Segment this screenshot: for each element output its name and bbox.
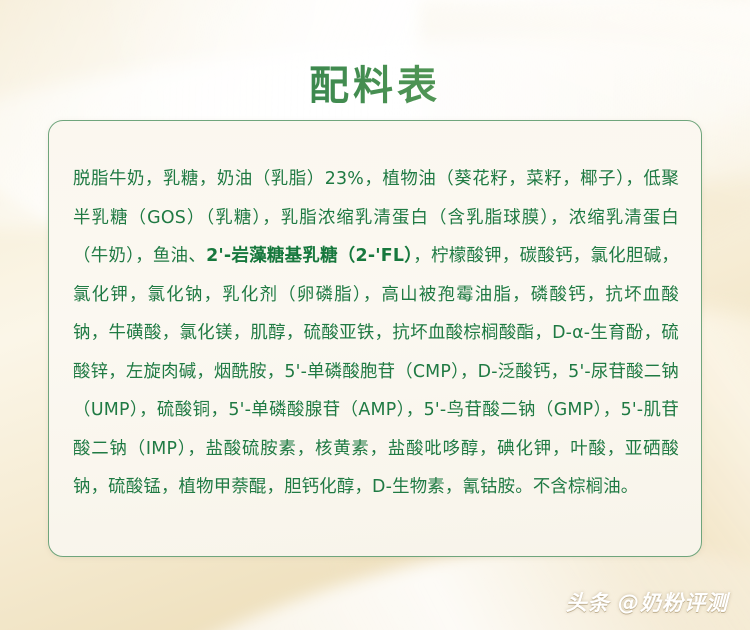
poster-stage: 配料表 脱脂牛奶，乳糖，奶油（乳脂）23%，植物油（葵花籽，菜籽，椰子），低聚半… — [0, 0, 750, 630]
page-title: 配料表 — [0, 61, 750, 111]
ingredients-highlight-2fl: 2'-岩藻糖基乳糖（2-'FL） — [206, 246, 413, 266]
ingredients-suffix-text: ，柠檬酸钾，碳酸钙，氯化胆碱，氯化钾，氯化钠，乳化剂（卵磷脂），高山被孢霉油脂，… — [73, 246, 679, 497]
ingredients-text: 脱脂牛奶，乳糖，奶油（乳脂）23%，植物油（葵花籽，菜籽，椰子），低聚半乳糖（G… — [73, 160, 679, 507]
ingredients-card: 脱脂牛奶，乳糖，奶油（乳脂）23%，植物油（葵花籽，菜籽，椰子），低聚半乳糖（G… — [48, 120, 702, 557]
watermark-label: 头条 @奶粉评测 — [566, 587, 728, 617]
